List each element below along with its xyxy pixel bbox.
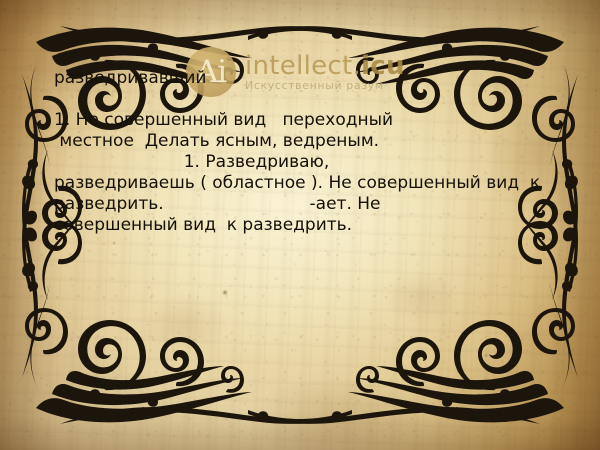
entry-headword: разведривавший (54, 68, 206, 88)
definition-line: местное Делать ясным, ведреным. (54, 131, 554, 152)
definition-line: 1. Не совершенный вид переходный (54, 110, 554, 131)
entry-definition: 1. Не совершенный вид переходный местное… (54, 110, 554, 236)
definition-line: разведриваешь ( областное ). Не совершен… (54, 173, 554, 194)
definition-line: 1. Разведриваю, (54, 152, 554, 173)
definition-line: разведрить. -ает. Не (54, 194, 554, 215)
dictionary-card: Ai intellect.icu Искусственный разум раз… (0, 0, 600, 450)
definition-line: совершенный вид к разведрить. (54, 215, 554, 236)
